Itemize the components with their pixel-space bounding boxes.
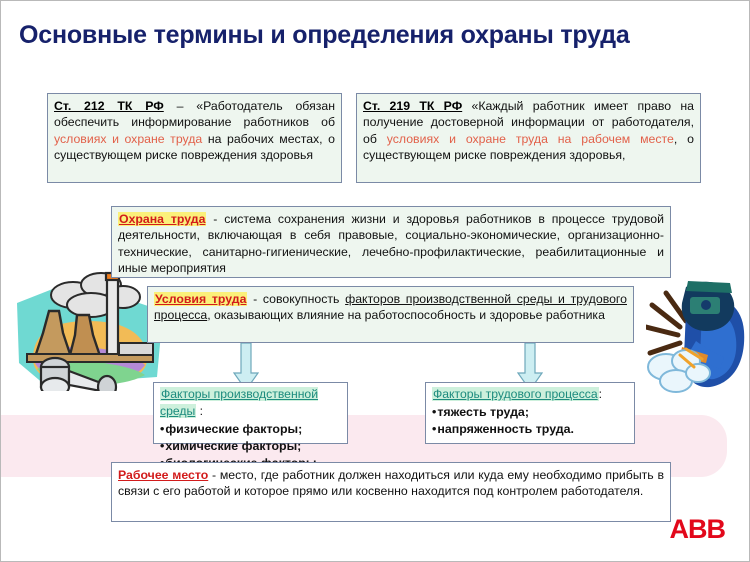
presentation-slide: Основные термины и определения охраны тр… [0,0,750,562]
list-item: химические факторы; [160,438,342,455]
list-header-environment-text: Факторы производственной среды [160,387,318,418]
term-lead-219: Ст. 219 ТК РФ [363,99,462,113]
abb-logo: ABB [670,514,726,545]
box-article-212: Ст. 212 ТК РФ – «Работодатель обязан обе… [47,93,342,183]
list-labour-process-factors: Факторы трудового процесса: тяжесть труд… [425,382,635,444]
list-item: тяжесть труда; [432,404,629,421]
term-lead-workplace: Рабочее место [118,468,208,482]
list-environment-factors: Факторы производственной среды : физичес… [153,382,348,444]
list-item: напряженность труда. [432,421,629,438]
term-lead-working-conditions: Условия труда [154,292,247,306]
factory-clipart [15,259,165,391]
list-header-environment-suffix: : [196,404,203,418]
list-item: физические факторы; [160,421,342,438]
list-header-labour-process-suffix: : [599,387,602,401]
highlight-212: условиях и охране труда [54,132,202,146]
text-wc-after: , оказывающих влияние на работоспособнос… [207,308,605,322]
highlight-219: условиях и охране труда на рабочем месте [387,132,674,146]
text-wc-before: - совокупность [247,292,345,306]
list-header-labour-process-text: Факторы трудового процесса [432,387,599,401]
list-header-environment: Факторы производственной среды : [160,386,342,420]
box-labour-protection: Охрана труда - система сохранения жизни … [111,206,671,278]
term-lead-212: Ст. 212 ТК РФ [54,99,164,113]
box-workplace: Рабочее место - место, где работник долж… [111,462,671,522]
list-header-labour-process: Факторы трудового процесса: [432,386,629,403]
term-lead-labour-protection: Охрана труда [118,212,206,226]
box-working-conditions: Условия труда - совокупность факторов пр… [147,286,634,343]
box-article-219: Ст. 219 ТК РФ «Каждый работник имеет пра… [356,93,701,183]
page-title: Основные термины и определения охраны тр… [19,21,630,50]
